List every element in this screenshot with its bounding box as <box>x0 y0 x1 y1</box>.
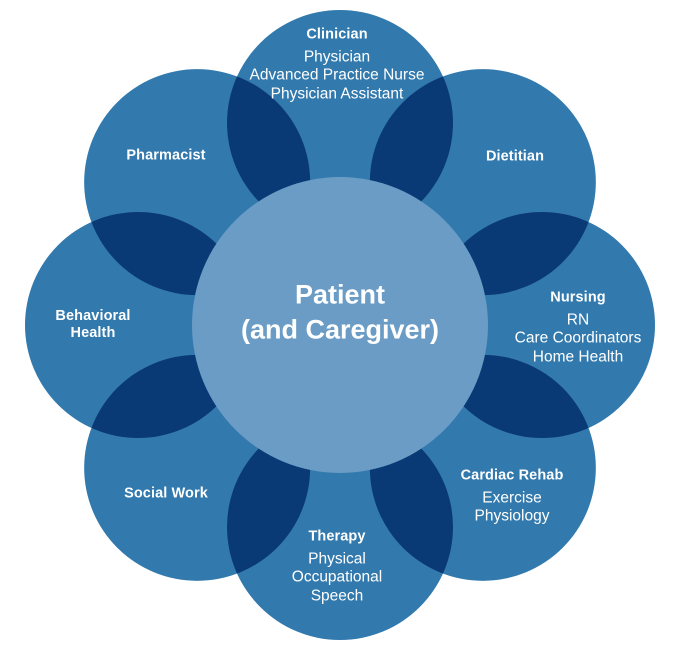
center-circle[interactable] <box>192 177 488 473</box>
petal-venn-graphic <box>0 0 680 664</box>
care-team-diagram: Patient (and Caregiver) ClinicianPhysici… <box>0 0 680 664</box>
